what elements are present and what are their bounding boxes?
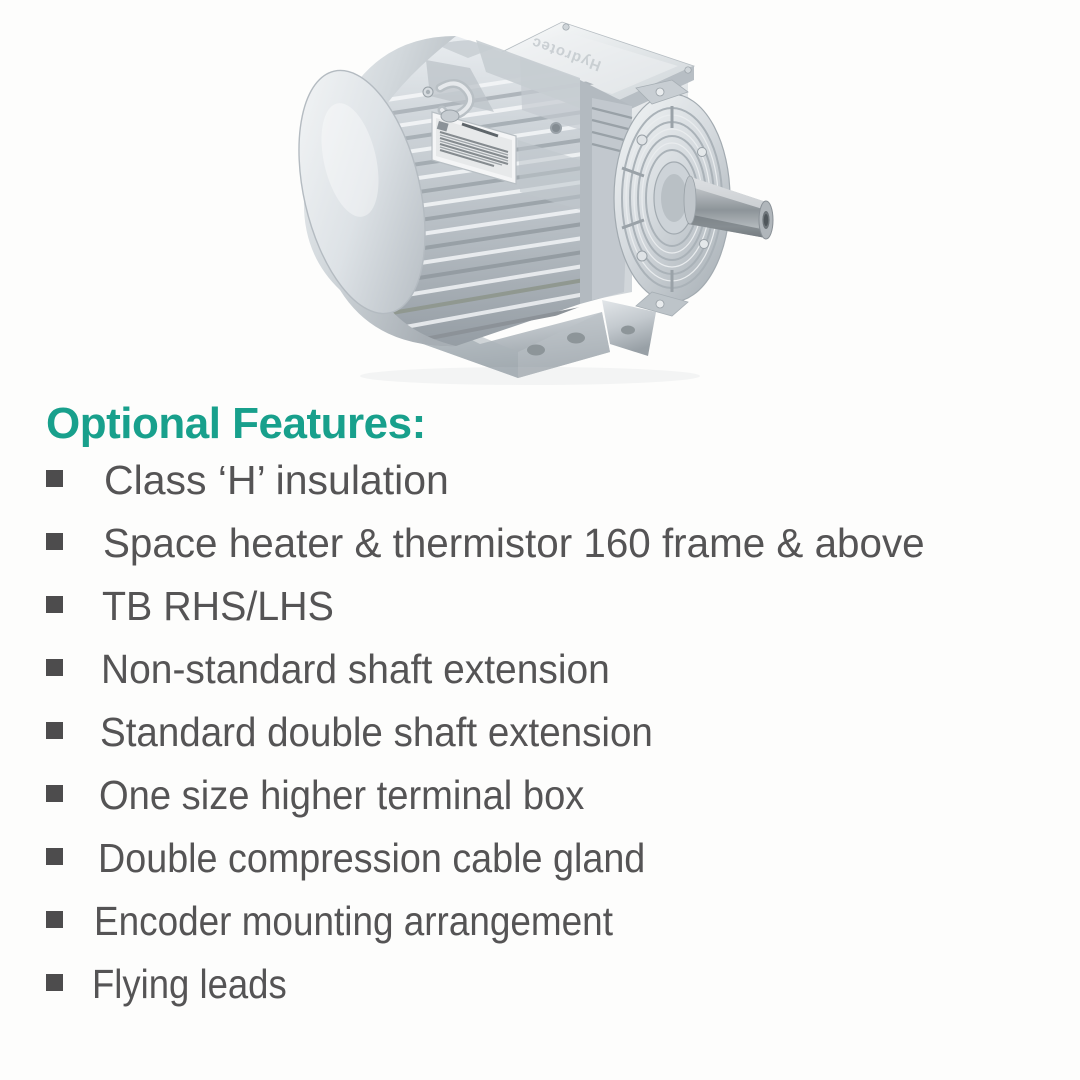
list-item-label: Standard double shaft extension — [100, 712, 653, 753]
list-item: One size higher terminal box — [0, 763, 1080, 826]
list-item-label: Class ‘H’ insulation — [104, 460, 449, 501]
product-image: Hydrotec — [0, 0, 1080, 392]
list-item: Non-standard shaft extension — [0, 637, 1080, 700]
features-list: Class ‘H’ insulationSpace heater & therm… — [0, 448, 1080, 1015]
list-item-label: Encoder mounting arrangement — [94, 901, 613, 942]
list-bullet-icon — [46, 596, 63, 613]
list-item: Space heater & thermistor 160 frame & ab… — [0, 511, 1080, 574]
page-title: Optional Features: — [0, 392, 1080, 448]
list-item-label: Non-standard shaft extension — [101, 649, 610, 690]
list-item-label: Flying leads — [92, 964, 287, 1005]
list-bullet-icon — [46, 722, 63, 739]
list-item-label: One size higher terminal box — [99, 775, 584, 816]
list-bullet-icon — [46, 785, 63, 802]
list-bullet-icon — [46, 470, 63, 487]
list-bullet-icon — [46, 848, 63, 865]
list-item: Standard double shaft extension — [0, 700, 1080, 763]
page-root: Hydrotec — [0, 0, 1080, 1080]
list-item: Flying leads — [0, 952, 1080, 1015]
list-item-label: Double compression cable gland — [98, 838, 645, 879]
list-item-label: TB RHS/LHS — [102, 586, 334, 627]
list-bullet-icon — [46, 533, 63, 550]
electric-motor-illustration: Hydrotec — [280, 0, 800, 392]
list-item: Encoder mounting arrangement — [0, 889, 1080, 952]
list-bullet-icon — [46, 659, 63, 676]
list-item: TB RHS/LHS — [0, 574, 1080, 637]
optional-features-block: Optional Features: Class ‘H’ insulationS… — [0, 392, 1080, 1015]
list-item-label: Space heater & thermistor 160 frame & ab… — [103, 523, 925, 564]
list-item: Class ‘H’ insulation — [0, 448, 1080, 511]
list-bullet-icon — [46, 974, 63, 991]
list-item: Double compression cable gland — [0, 826, 1080, 889]
list-bullet-icon — [46, 911, 63, 928]
